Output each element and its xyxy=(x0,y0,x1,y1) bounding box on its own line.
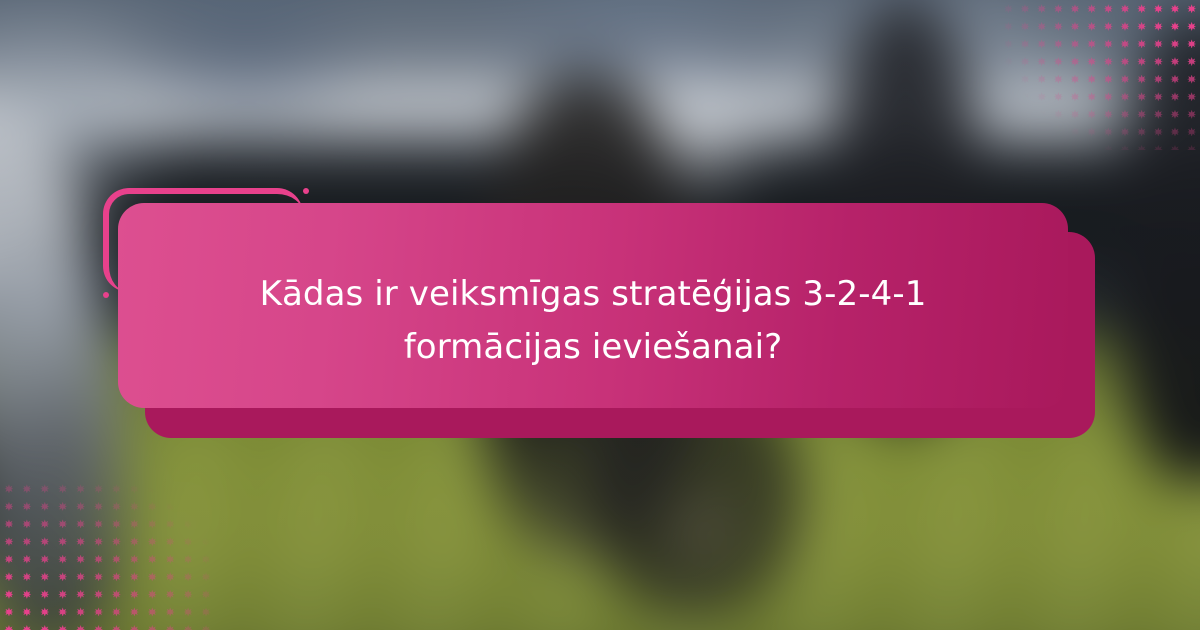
title-container: Kādas ir veiksmīgas stratēģijas 3-2-4-1 … xyxy=(118,203,1068,438)
og-card-canvas: Kādas ir veiksmīgas stratēģijas 3-2-4-1 … xyxy=(0,0,1200,630)
page-title: Kādas ir veiksmīgas stratēģijas 3-2-4-1 … xyxy=(243,268,943,373)
